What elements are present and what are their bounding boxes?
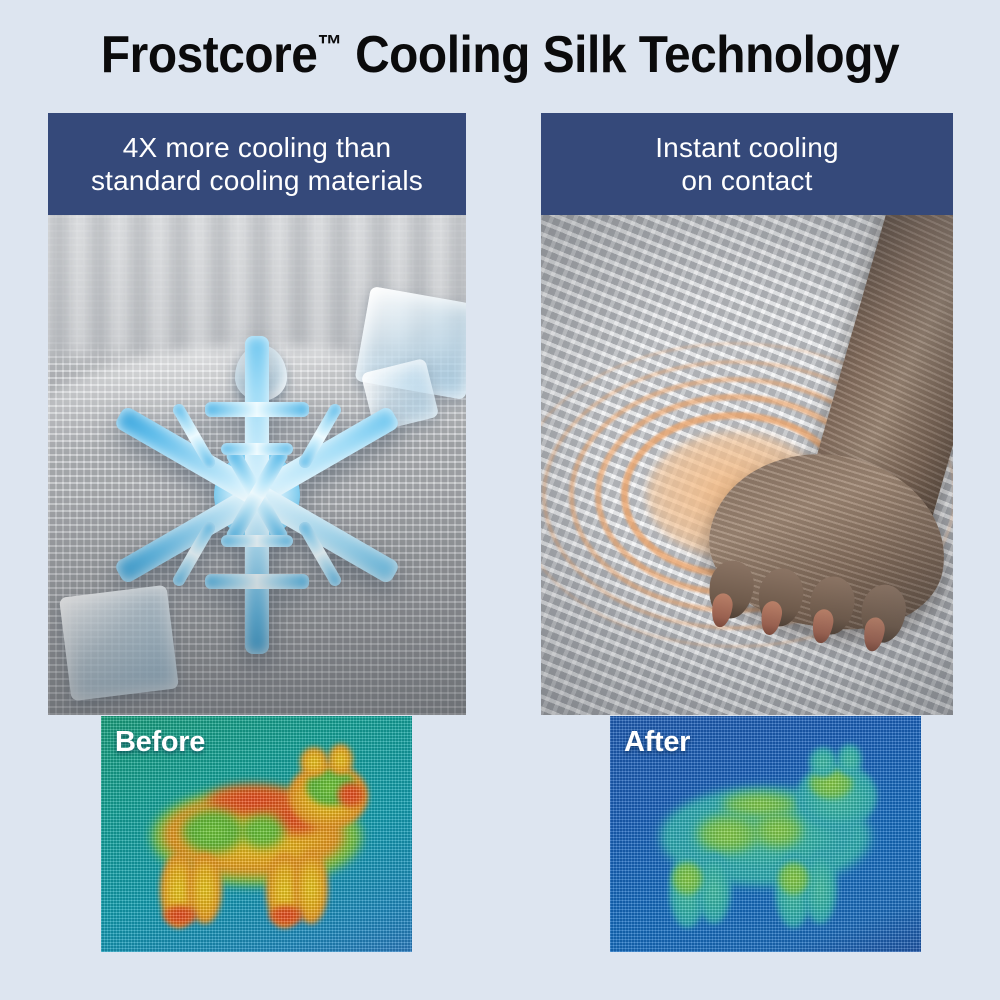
fabric-shadow [48,485,466,715]
panel-right-banner-line-2: on contact [681,164,812,197]
dog-leg [697,853,731,924]
dog-warm-patch [697,815,759,853]
dog-cool-patch [182,810,244,852]
dog-ear [300,747,328,778]
thermal-image-before: Before [101,716,412,952]
page-title: Frostcore™ Cooling Silk Technology [40,28,960,83]
dog-paw [269,905,303,926]
dog-ear [809,747,837,778]
dog-warm-patch [753,813,803,848]
feature-panel-right: Instant cooling on contact [541,113,953,715]
panel-left-banner-line-2: standard cooling materials [91,164,423,197]
page-title-brand: Frostcore [101,26,318,84]
panel-left-banner-line-1: 4X more cooling than [123,131,392,164]
dog-paw [163,905,197,926]
thermal-label-after: After [624,726,690,759]
photo-vignette [541,215,953,715]
thermal-image-after: After [610,716,921,952]
panel-right-banner: Instant cooling on contact [541,113,953,215]
thermal-label-before: Before [115,726,205,759]
page-title-rest: Cooling Silk Technology [342,26,899,84]
snowflake-branch [205,402,309,417]
dog-leg [803,851,837,924]
paw-contact-photo [541,215,953,715]
trademark-symbol: ™ [317,30,342,60]
snowflake-branch [221,443,293,455]
panel-left-banner: 4X more cooling than standard cooling ma… [48,113,466,215]
panel-right-banner-line-1: Instant cooling [655,131,839,164]
dog-ear [328,744,353,775]
dog-back-warm-patch [722,792,797,818]
dog-ear [837,744,862,775]
feature-panel-left: 4X more cooling than standard cooling ma… [48,113,466,715]
snowflake-fabric-photo [48,215,466,715]
